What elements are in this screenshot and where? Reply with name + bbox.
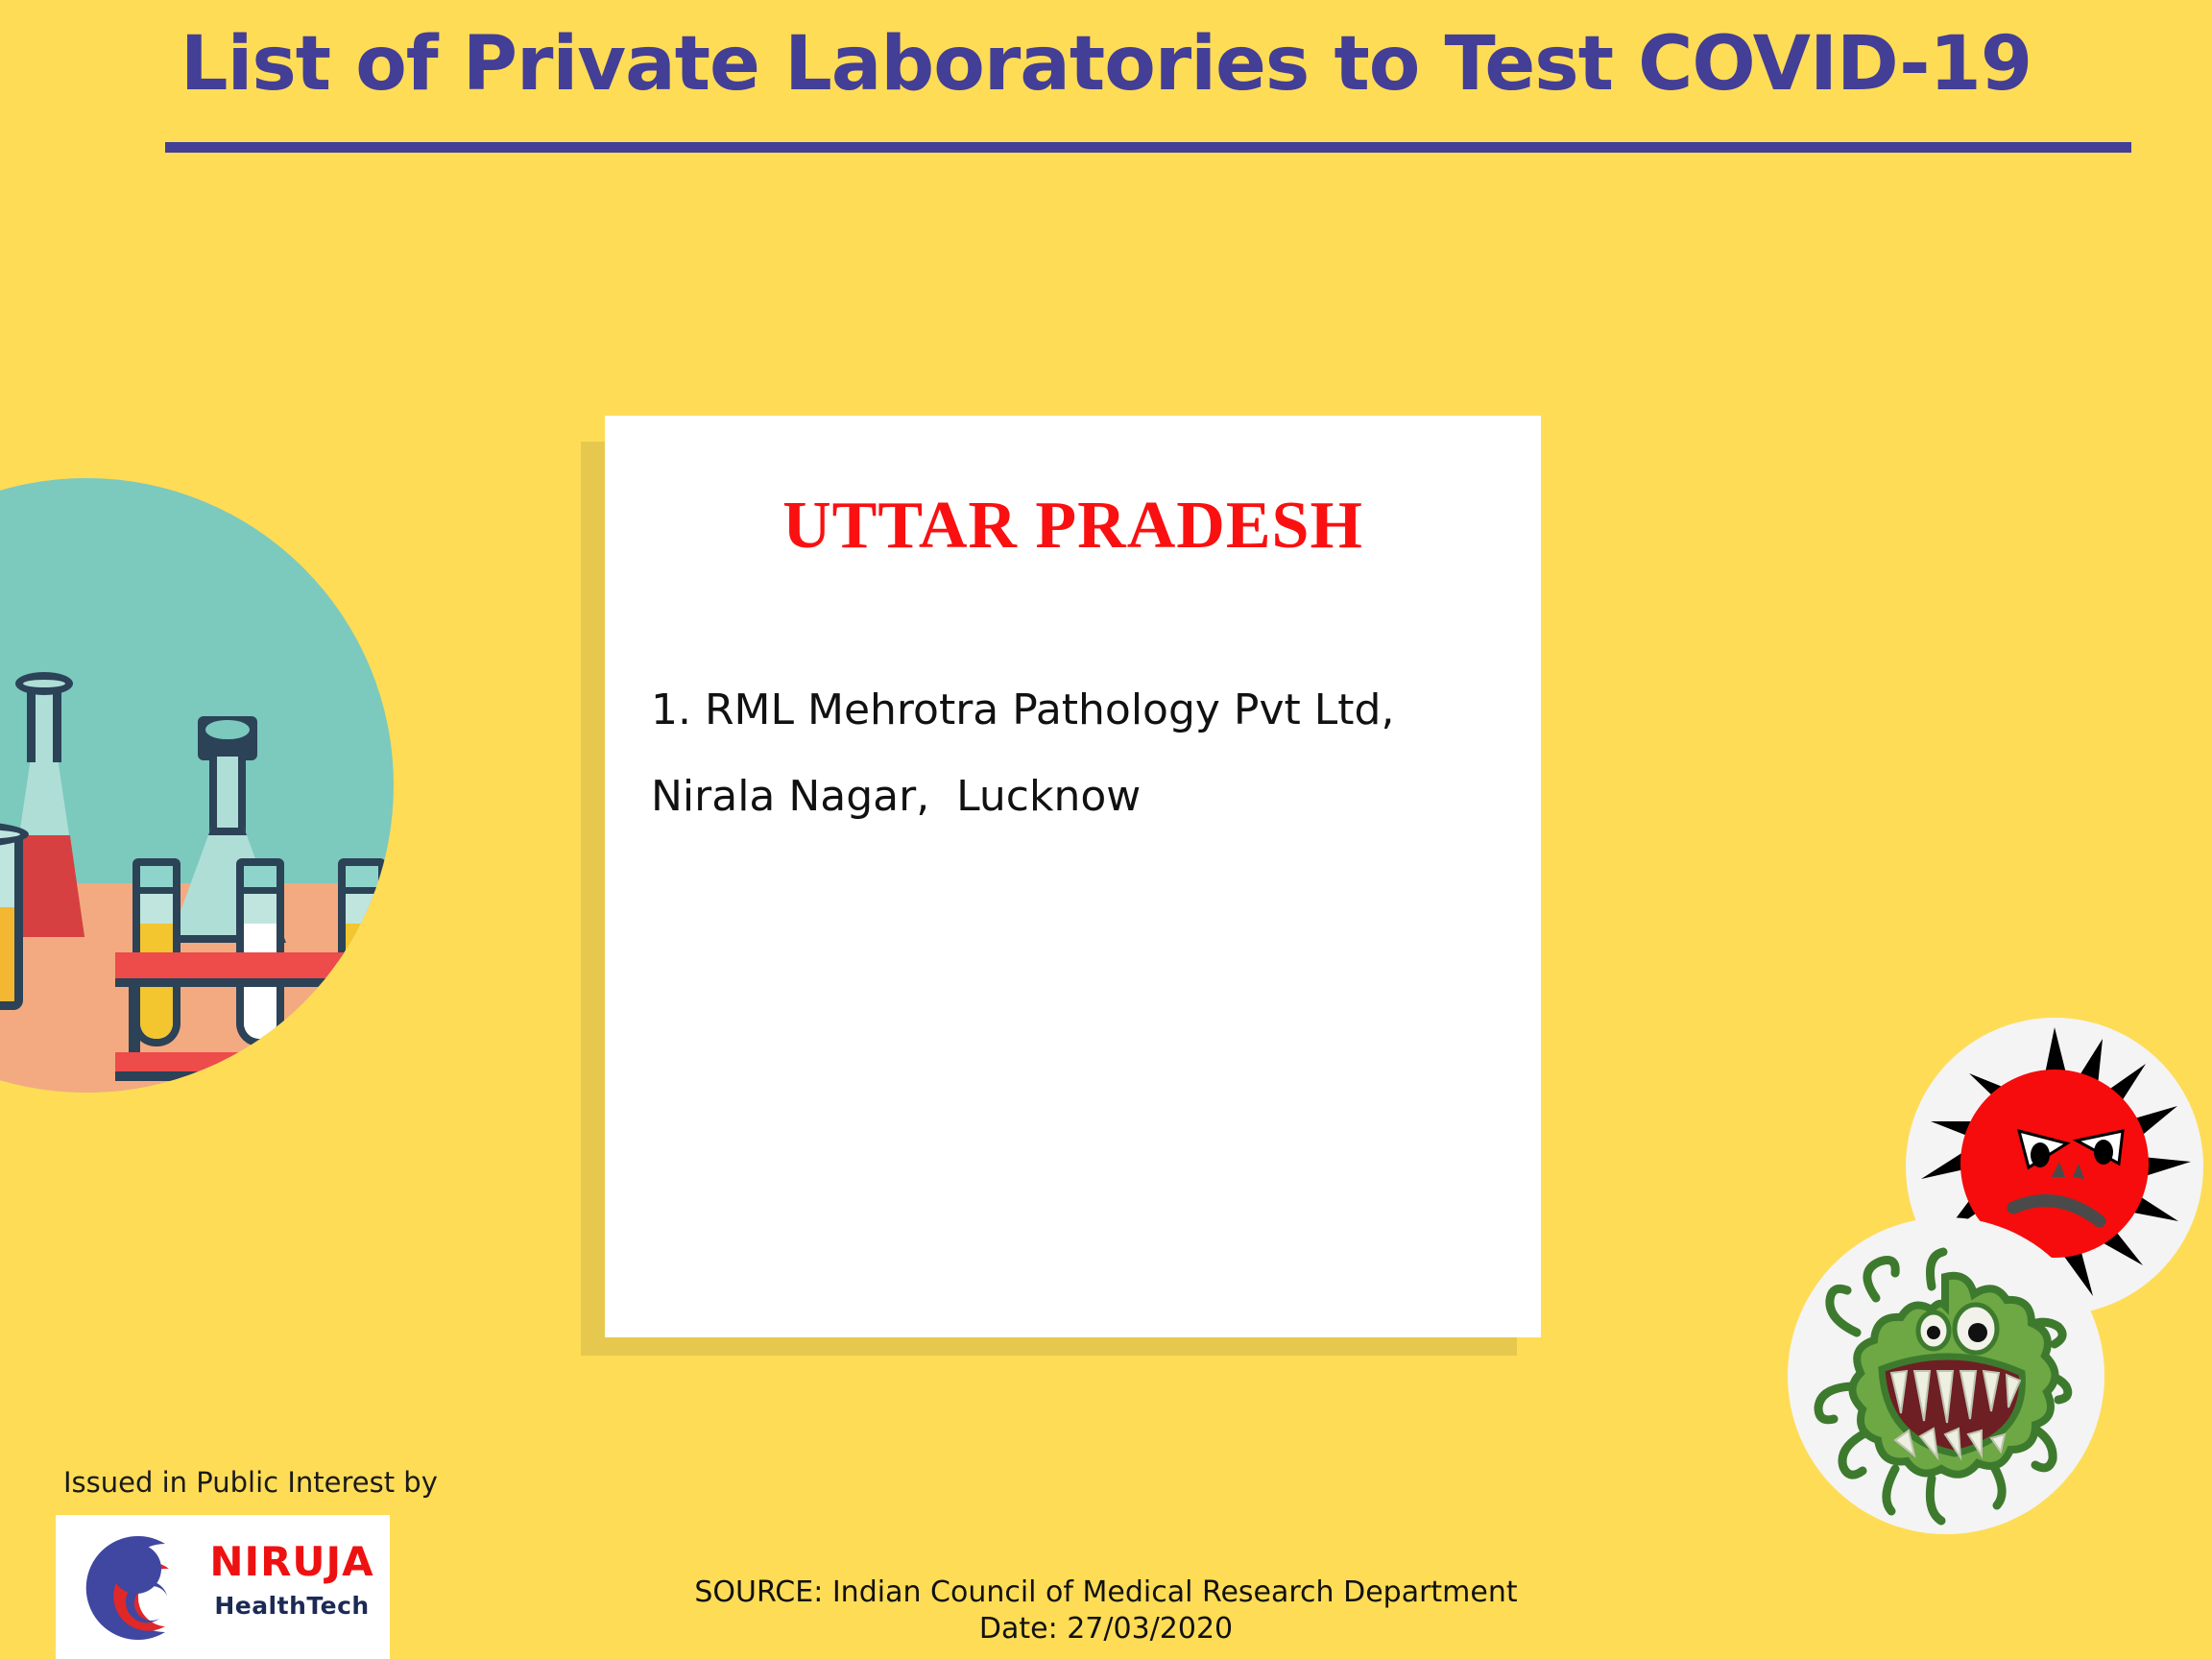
state-heading: UTTAR PRADESH [605, 488, 1541, 565]
source-block: SOURCE: Indian Council of Medical Resear… [0, 1575, 2212, 1648]
issued-by-label: Issued in Public Interest by [63, 1466, 438, 1499]
test-tube-rack-icon [115, 849, 394, 1089]
source-date: Date: 27/03/2020 [0, 1611, 2212, 1647]
page-title: List of Private Laboratories to Test COV… [180, 25, 2032, 105]
laboratory-flasks-icon [0, 478, 394, 1093]
list-item: Nirala Nagar, Lucknow [651, 776, 1512, 818]
beaker-icon [0, 814, 29, 1012]
green-germ-monster-icon [1788, 1217, 2104, 1534]
list-item: 1. RML Mehrotra Pathology Pvt Ltd, [651, 689, 1512, 732]
title-underline [165, 142, 2131, 153]
poster-canvas: List of Private Laboratories to Test COV… [0, 0, 2212, 1659]
content-card: UTTAR PRADESH 1. RML Mehrotra Pathology … [605, 416, 1541, 1337]
green-germ-monster-graphic [1788, 1217, 2104, 1534]
source-line: SOURCE: Indian Council of Medical Resear… [0, 1575, 2212, 1611]
laboratory-list: 1. RML Mehrotra Pathology Pvt Ltd, Niral… [651, 689, 1512, 862]
title-block: List of Private Laboratories to Test COV… [0, 25, 2212, 105]
